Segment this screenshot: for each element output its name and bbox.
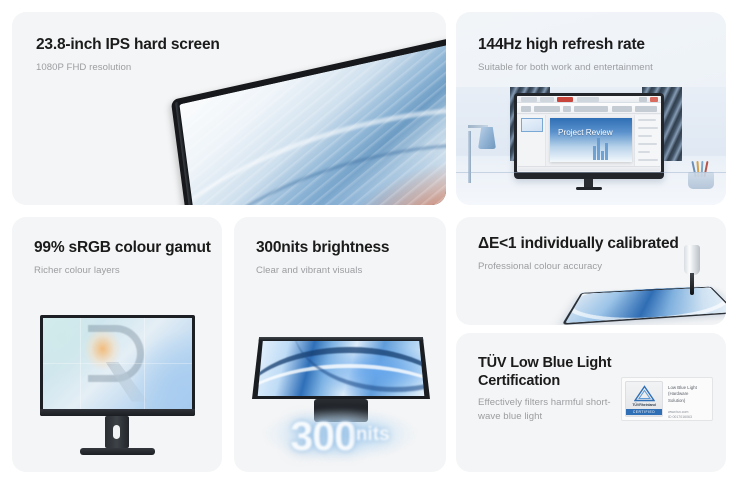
- tuv-triangle-svg: [634, 385, 655, 402]
- card-text-block: ΔE<1 individually calibrated Professiona…: [478, 235, 679, 273]
- window-controls-icon: [639, 97, 647, 102]
- card-text-block: TÜV Low Blue Light Certification Effecti…: [478, 355, 613, 423]
- slide-thumbnail: [521, 118, 543, 132]
- card-subtitle: Professional colour accuracy: [478, 260, 679, 273]
- lamp-shade: [478, 127, 496, 149]
- badge-certified-text: CERTIFIED: [626, 409, 662, 415]
- card-text-block: 144Hz high refresh rate Suitable for bot…: [478, 36, 653, 74]
- lamp-pole: [468, 131, 471, 183]
- slide-title: Project Review: [558, 128, 613, 137]
- ribbon-icon: [563, 106, 571, 112]
- wallpaper-grid-line: [43, 363, 192, 364]
- slide-canvas: Project Review: [550, 118, 632, 162]
- app-statusbar: [518, 166, 660, 171]
- titlebar-tab: [577, 97, 599, 102]
- card-text-block: 99% sRGB colour gamut Richer colour laye…: [34, 239, 211, 277]
- card-title: 144Hz high refresh rate: [478, 36, 653, 55]
- desk-monitor-image: Project Review: [514, 93, 664, 189]
- panel-row: [638, 151, 650, 153]
- feature-card-refresh-rate: 144Hz high refresh rate Suitable for bot…: [456, 12, 726, 205]
- slide-chart-bar: [601, 151, 604, 160]
- tuv-certified-badge: TÜVRheinland CERTIFIED Low Blue Light (H…: [621, 377, 713, 421]
- product-feature-grid: 23.8-inch IPS hard screen 1080P FHD reso…: [0, 0, 738, 484]
- card-title: 23.8-inch IPS hard screen: [36, 36, 220, 55]
- badge-brand-text: TÜVRheinland: [632, 403, 655, 407]
- card-text-block: 23.8-inch IPS hard screen 1080P FHD reso…: [36, 36, 220, 74]
- badge-description: Low Blue Light (Hardware Solution) www.t…: [663, 381, 709, 417]
- monitor-top-edge: [254, 337, 428, 341]
- monitor-chin: [40, 409, 195, 416]
- feature-card-delta-e: ΔE<1 individually calibrated Professiona…: [456, 217, 726, 325]
- panel-row: [638, 127, 658, 129]
- panel-row: [638, 159, 658, 161]
- close-icon: [650, 97, 658, 102]
- card-subtitle: Richer colour layers: [34, 264, 211, 277]
- probe-body: [684, 245, 700, 275]
- card-title: ΔE<1 individually calibrated: [478, 235, 679, 254]
- feature-card-ips-screen: 23.8-inch IPS hard screen 1080P FHD reso…: [12, 12, 446, 205]
- panel-row: [638, 119, 656, 121]
- monitor-bezel: [252, 337, 430, 399]
- titlebar-tab: [540, 97, 554, 102]
- card-subtitle: Clear and vibrant visuals: [256, 264, 389, 277]
- desk-scene: Project Review: [456, 87, 726, 205]
- badge-mark: TÜVRheinland CERTIFIED: [625, 381, 663, 417]
- pen-cup: [688, 172, 714, 189]
- monitor-base: [576, 187, 602, 190]
- panel-frame: [562, 287, 726, 325]
- panel-row: [638, 135, 652, 137]
- slide-panel: [518, 115, 546, 166]
- card-title: TÜV Low Blue Light Certification: [478, 355, 613, 390]
- ribbon-icon: [612, 106, 632, 112]
- card-subtitle: 1080P FHD resolution: [36, 61, 220, 74]
- card-title: 99% sRGB colour gamut: [34, 239, 211, 258]
- titlebar-tab-active: [557, 97, 573, 102]
- card-subtitle: Suitable for both work and entertainment: [478, 61, 653, 74]
- feature-card-tuv-certification: TÜV Low Blue Light Certification Effecti…: [456, 333, 726, 472]
- front-monitor-image: [40, 315, 195, 458]
- badge-meta: www.tuv.com ID 0017016063: [668, 410, 709, 420]
- cable-management-hole: [113, 425, 120, 439]
- monitor-base: [80, 448, 155, 455]
- pen-holder-icon: [688, 159, 714, 189]
- colorimeter-probe-icon: [684, 245, 700, 295]
- ribbon-icon: [635, 106, 657, 112]
- format-panel: [634, 115, 660, 166]
- slide-chart-bar: [605, 143, 608, 160]
- badge-id: ID 0017016063: [668, 415, 709, 420]
- desk-lamp-icon: [466, 123, 500, 183]
- ribbon-icon: [574, 106, 608, 112]
- ribbon-icon: [534, 106, 560, 112]
- slide-chart-bar: [593, 146, 596, 160]
- monitor-screen: Project Review: [517, 96, 661, 172]
- monitor-bezel: [40, 315, 195, 416]
- brightness-glow-label: 300nits: [234, 413, 446, 460]
- monitor-bezel: Project Review: [514, 93, 664, 179]
- card-subtitle: Effectively filters harmful short-wave b…: [478, 396, 613, 422]
- card-text-block: 300nits brightness Clear and vibrant vis…: [256, 239, 389, 277]
- probe-tip: [690, 273, 694, 295]
- badge-line-3: Solution): [668, 398, 709, 404]
- feature-card-srgb-gamut: 99% sRGB colour gamut Richer colour laye…: [12, 217, 222, 472]
- glow-value: 300: [290, 413, 355, 459]
- monitor-screen: [256, 341, 426, 396]
- ribbon-icon: [521, 106, 531, 112]
- feature-card-brightness: 300nits brightness Clear and vibrant vis…: [234, 217, 446, 472]
- titlebar-tab: [521, 97, 537, 102]
- panel-row: [638, 143, 657, 145]
- app-ribbon: [517, 103, 661, 114]
- app-titlebar: [517, 96, 661, 103]
- glow-unit: nits: [356, 424, 390, 445]
- card-title: 300nits brightness: [256, 239, 389, 258]
- slide-chart-bar: [597, 138, 600, 160]
- tuv-triangle-icon: [634, 385, 655, 402]
